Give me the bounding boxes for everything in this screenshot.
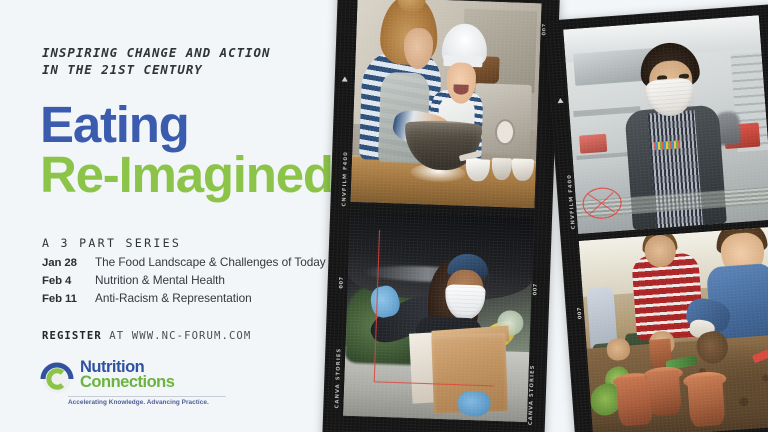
nutrition-connections-logo-icon (40, 362, 74, 396)
list-item: Jan 28 The Food Landscape & Challenges o… (42, 255, 342, 272)
photo-grocery-delivery-image (343, 211, 534, 422)
photo-kitchen-worker (563, 15, 768, 234)
logo: Nutrition Connections Accelerating Knowl… (40, 360, 230, 412)
photo-grocery-delivery (343, 211, 534, 422)
register-line[interactable]: REGISTER AT WWW.NC-FORUM.COM (42, 330, 251, 342)
tagline: INSPIRING CHANGE AND ACTION IN THE 21ST … (42, 44, 270, 78)
photo-gardening (579, 227, 768, 432)
series-list: Jan 28 The Food Landscape & Challenges o… (42, 255, 342, 309)
session-date: Jan 28 (42, 257, 95, 269)
headline-line-1: Eating (40, 100, 333, 150)
headline-line-2: Re-Imagined (40, 150, 333, 200)
session-title: Anti-Racism & Representation (95, 291, 252, 305)
session-date: Feb 4 (42, 275, 95, 287)
film-edge-triangle-icon (342, 76, 348, 81)
logo-wordmark: Nutrition Connections (80, 360, 174, 390)
film-strip-left: CNVFILM F400 007 CANVA STORIES 007 007 C… (322, 0, 560, 432)
poster-canvas: INSPIRING CHANGE AND ACTION IN THE 21ST … (0, 0, 768, 432)
photo-baking (351, 0, 542, 208)
logo-divider (68, 396, 226, 397)
photo-gardening-image (579, 227, 768, 432)
text-column: INSPIRING CHANGE AND ACTION IN THE 21ST … (0, 0, 340, 432)
photo-baking-image (351, 0, 542, 208)
film-frame-number-3: 007 (532, 283, 538, 295)
register-url: AT WWW.NC-FORUM.COM (102, 330, 252, 342)
film-edge-label-2: CANVA STORIES (334, 348, 342, 409)
register-label: REGISTER (42, 330, 102, 342)
film-edge-label-3: CANVA STORIES (528, 364, 536, 425)
session-title: The Food Landscape & Challenges of Today (95, 255, 326, 269)
film-frame-number-2: 007 (338, 276, 344, 288)
film-strip-right: CNVFILM F400 007 007 CANVA STORIES (545, 4, 768, 432)
logo-tagline: Accelerating Knowledge. Advancing Practi… (68, 399, 209, 406)
page-title: Eating Re-Imagined (40, 100, 333, 200)
film-frame-number-right: 007 (577, 307, 584, 320)
film-edge-label: CNVFILM F400 (341, 151, 349, 207)
list-item: Feb 4 Nutrition & Mental Health (42, 273, 342, 290)
list-item: Feb 11 Anti-Racism & Representation (42, 291, 342, 308)
film-edge-triangle-icon-right (557, 98, 563, 103)
series-heading: A 3 PART SERIES (42, 236, 181, 250)
session-title: Nutrition & Mental Health (95, 273, 225, 287)
session-date: Feb 11 (42, 293, 95, 305)
logo-word-connections: Connections (80, 375, 174, 390)
photo-kitchen-worker-image (563, 15, 768, 234)
